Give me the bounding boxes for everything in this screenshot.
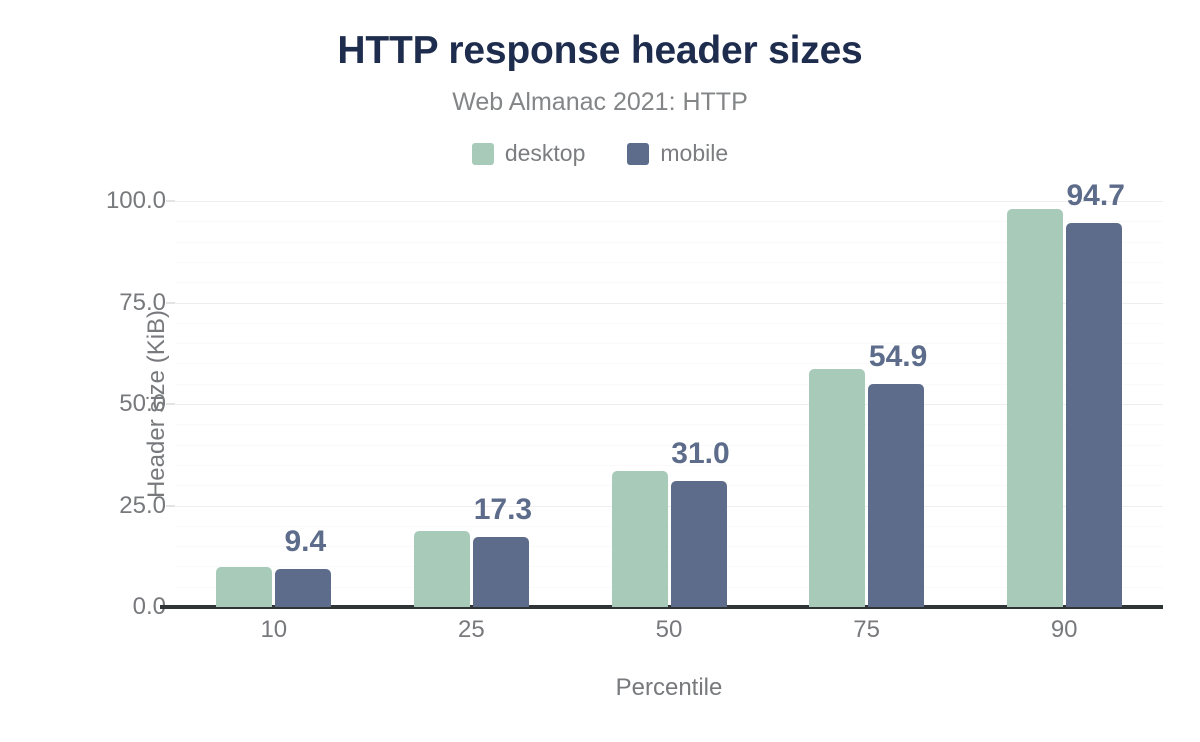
chart-subtitle: Web Almanac 2021: HTTP <box>0 88 1200 117</box>
gridline-major <box>175 201 1163 202</box>
bar-mobile-75[interactable] <box>868 384 924 607</box>
y-tick-label: 75.0 <box>119 291 166 315</box>
bar-chart: HTTP response header sizes Web Almanac 2… <box>0 0 1200 742</box>
chart-title: HTTP response header sizes <box>0 30 1200 73</box>
y-tick-mark <box>166 505 175 506</box>
chart-legend: desktopmobile <box>0 142 1200 165</box>
y-tick-mark <box>166 404 175 405</box>
bar-desktop-10[interactable] <box>216 567 272 607</box>
y-tick-mark <box>166 201 175 202</box>
bar-value-label: 54.9 <box>869 342 927 372</box>
legend-swatch-mobile <box>627 143 649 165</box>
x-axis-title: Percentile <box>175 676 1163 700</box>
x-tick-label: 50 <box>656 618 683 642</box>
bar-mobile-50[interactable] <box>671 481 727 607</box>
bar-value-label: 94.7 <box>1066 181 1124 211</box>
bar-value-label: 9.4 <box>284 527 326 557</box>
bar-value-label: 17.3 <box>474 495 532 525</box>
x-tick-label: 90 <box>1051 618 1078 642</box>
x-tick-label: 75 <box>853 618 880 642</box>
legend-label: mobile <box>660 142 728 165</box>
bar-mobile-25[interactable] <box>473 537 529 607</box>
y-tick-label: 50.0 <box>119 392 166 416</box>
legend-entry-mobile[interactable]: mobile <box>627 142 728 165</box>
y-tick-label: 25.0 <box>119 494 166 518</box>
bar-mobile-90[interactable] <box>1066 223 1122 607</box>
legend-entry-desktop[interactable]: desktop <box>472 142 586 165</box>
bar-desktop-25[interactable] <box>414 531 470 607</box>
bar-desktop-90[interactable] <box>1007 209 1063 607</box>
x-tick-label: 25 <box>458 618 485 642</box>
legend-swatch-desktop <box>472 143 494 165</box>
bar-mobile-10[interactable] <box>275 569 331 607</box>
y-tick-mark <box>166 302 175 303</box>
legend-label: desktop <box>505 142 586 165</box>
bar-value-label: 31.0 <box>671 439 729 469</box>
bar-desktop-50[interactable] <box>612 471 668 607</box>
y-tick-label: 100.0 <box>106 189 166 213</box>
x-tick-label: 10 <box>260 618 287 642</box>
bar-desktop-75[interactable] <box>809 369 865 607</box>
